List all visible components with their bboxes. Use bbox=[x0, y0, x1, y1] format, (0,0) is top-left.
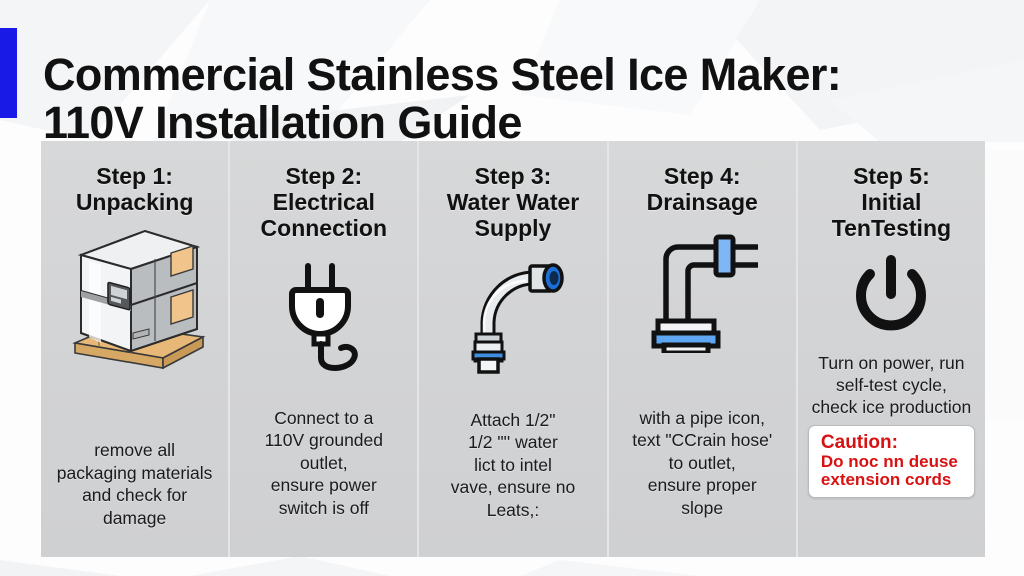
step-3-heading: Step 3: Water Water Supply bbox=[447, 163, 580, 242]
step-2-body: Connect to a 110V grounded outlet, ensur… bbox=[265, 407, 383, 519]
step-1-body: remove all packaging materials and check… bbox=[57, 439, 213, 529]
step-panel-3: Step 3: Water Water Supply bbox=[417, 141, 606, 557]
step-2-heading: Step 2: Electrical Connection bbox=[261, 163, 388, 242]
step-5-body: Turn on power, run self-test cycle, chec… bbox=[812, 352, 972, 419]
step-5-heading: Step 5: Initial TenTesting bbox=[832, 163, 951, 242]
drain-elbow-pipe-icon bbox=[640, 225, 764, 353]
step-panel-5: Step 5: Initial TenTesting Turn on power… bbox=[796, 141, 985, 557]
step-3-body: Attach 1/2" 1/2 "'' water lict to intel … bbox=[451, 409, 576, 521]
crated-ice-maker-on-pallet-icon bbox=[59, 225, 211, 375]
steps-band: Step 1: Unpacking bbox=[41, 141, 985, 557]
step-panel-2: Step 2: Electrical Connection Connect to… bbox=[228, 141, 417, 557]
step-4-body: with a pipe icon, text "CCrain hose' to … bbox=[632, 407, 772, 519]
power-button-icon bbox=[846, 252, 936, 342]
water-hose-connector-icon bbox=[454, 252, 572, 376]
step-1-heading: Step 1: Unpacking bbox=[76, 163, 194, 215]
step-panel-1: Step 1: Unpacking bbox=[41, 141, 228, 557]
title-accent-bar bbox=[0, 28, 17, 118]
caution-text: Do noc nn deuse extension cords bbox=[817, 453, 966, 490]
step-4-heading: Step 4: Drainsage bbox=[647, 163, 758, 215]
step-panel-4: Step 4: Drainsage with bbox=[607, 141, 796, 557]
caution-title: Caution: bbox=[817, 433, 966, 453]
page-title: Commercial Stainless Steel Ice Maker: 11… bbox=[43, 51, 1003, 146]
power-plug-icon bbox=[264, 252, 384, 372]
caution-box: Caution: Do noc nn deuse extension cords bbox=[808, 425, 975, 499]
